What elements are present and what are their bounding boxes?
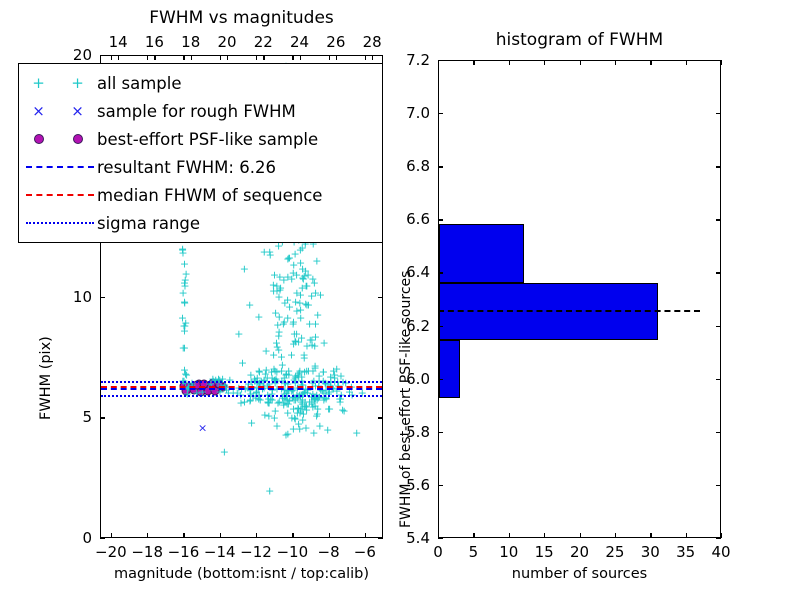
all-sample-point: + (180, 321, 189, 332)
all-sample-point: + (247, 418, 256, 429)
all-sample-point: + (299, 408, 308, 419)
all-sample-point: + (285, 396, 294, 407)
axis-tick (329, 533, 330, 538)
all-sample-point: + (284, 252, 293, 263)
all-sample-point: + (296, 304, 305, 315)
dashed-line-icon (26, 166, 94, 168)
all-sample-point: + (310, 401, 319, 412)
all-sample-point: + (292, 287, 301, 298)
all-sample-point: + (236, 397, 245, 408)
all-sample-point: + (273, 319, 282, 330)
all-sample-point: + (281, 369, 290, 380)
all-sample-point: + (292, 270, 301, 281)
all-sample-point: + (308, 365, 317, 376)
all-sample-point: + (269, 286, 278, 297)
all-sample-point: + (298, 283, 307, 294)
all-sample-point: + (289, 392, 298, 403)
all-sample-point: + (296, 245, 305, 256)
sigma-lower-line (101, 395, 382, 397)
all-sample-point: + (311, 360, 320, 371)
all-sample-point: + (264, 411, 273, 422)
left-y-axis-label: FWHM (pix) (38, 336, 54, 420)
left-x-axis-label: magnitude (bottom:isnt / top:calib) (100, 566, 383, 582)
all-sample-point: + (180, 343, 189, 354)
all-sample-point: + (263, 396, 272, 407)
all-sample-point: + (313, 310, 322, 321)
all-sample-point: + (307, 398, 316, 409)
all-sample-point: + (275, 284, 284, 295)
top-x-tick-label: 22 (254, 33, 273, 51)
all-sample-point: + (301, 422, 310, 433)
all-sample-point: + (291, 249, 300, 260)
axis-tick (650, 533, 651, 538)
all-sample-point: + (307, 397, 316, 408)
all-sample-point: + (261, 345, 270, 356)
all-sample-point: + (302, 400, 311, 411)
x-tick-label: 10 (499, 543, 518, 561)
all-sample-point: + (305, 319, 314, 330)
legend-item-4: median FHWM of sequence (19, 181, 382, 209)
all-sample-point: + (234, 328, 243, 339)
all-sample-point: + (180, 281, 189, 292)
axis-tick (220, 533, 221, 538)
axis-tick (509, 60, 510, 65)
x-tick-label: −8 (318, 543, 340, 561)
all-sample-point: + (301, 298, 310, 309)
axis-tick (378, 55, 383, 56)
all-sample-point: + (279, 275, 288, 286)
all-sample-point: + (319, 366, 328, 377)
all-sample-point: + (294, 368, 303, 379)
axis-tick (292, 55, 293, 60)
all-sample-point: + (339, 406, 348, 417)
all-sample-point: + (274, 344, 283, 355)
axis-tick (183, 55, 184, 60)
all-sample-point: + (302, 404, 311, 415)
right-plot-frame (438, 60, 721, 538)
all-sample-point: + (313, 404, 322, 415)
all-sample-point: + (294, 419, 303, 430)
all-sample-point: + (296, 403, 305, 414)
circle-marker-icon (34, 134, 44, 144)
axis-tick (336, 55, 337, 60)
axis-tick (378, 538, 383, 539)
axis-tick (220, 55, 221, 60)
top-x-tick-label: 20 (217, 33, 236, 51)
all-sample-point: + (302, 365, 311, 376)
all-sample-point: + (246, 370, 255, 381)
all-sample-point: + (180, 297, 189, 308)
all-sample-point: + (283, 399, 292, 410)
all-sample-point: + (271, 374, 280, 385)
top-x-tick-label: 28 (363, 33, 382, 51)
all-sample-point: + (289, 268, 298, 279)
all-sample-point: + (298, 242, 307, 253)
all-sample-point: + (240, 263, 249, 274)
legend-marker-group (19, 166, 97, 168)
right-chart-title: histogram of FWHM (438, 30, 721, 50)
axis-tick (100, 417, 105, 418)
all-sample-point: + (288, 318, 297, 329)
axis-tick (154, 55, 155, 60)
all-sample-point: + (284, 365, 293, 376)
axis-tick (256, 55, 257, 60)
all-sample-point: + (325, 403, 334, 414)
right-x-axis-label: number of sources (438, 566, 721, 582)
all-sample-point: + (301, 281, 310, 292)
top-x-tick-label: 24 (290, 33, 309, 51)
all-sample-point: + (329, 366, 338, 377)
all-sample-point: + (296, 313, 305, 324)
all-sample-point: + (178, 248, 187, 259)
all-sample-point: + (214, 374, 223, 385)
axis-tick (716, 113, 721, 114)
histogram-bar (439, 283, 658, 340)
axis-tick (183, 533, 184, 538)
all-sample-point: + (277, 351, 286, 362)
axis-tick (473, 60, 474, 65)
all-sample-point: + (180, 258, 189, 269)
all-sample-point: + (297, 332, 306, 343)
axis-tick (438, 485, 443, 486)
all-sample-point: + (295, 408, 304, 419)
all-sample-point: + (308, 274, 317, 285)
all-sample-point: + (315, 392, 324, 403)
legend-item-5: sigma range (19, 209, 382, 237)
all-sample-point: + (181, 274, 190, 285)
axis-tick (716, 326, 721, 327)
all-sample-point: + (272, 338, 281, 349)
all-sample-point: + (272, 367, 281, 378)
y-tick-label: 0 (82, 529, 92, 547)
all-sample-point: + (336, 370, 345, 381)
all-sample-point: + (307, 339, 316, 350)
all-sample-point: + (293, 369, 302, 380)
axis-tick (716, 485, 721, 486)
axis-tick (263, 55, 264, 60)
all-sample-point: + (280, 316, 289, 327)
x-tick-label: 35 (676, 543, 695, 561)
all-sample-point: + (289, 404, 298, 415)
axis-tick (650, 60, 651, 65)
axis-tick (615, 533, 616, 538)
all-sample-point: + (275, 272, 284, 283)
legend-item-0: ++all sample (19, 69, 382, 97)
all-sample-point: + (287, 413, 296, 424)
all-sample-point: + (265, 485, 274, 496)
all-sample-point: + (308, 402, 317, 413)
all-sample-point: + (302, 341, 311, 352)
all-sample-point: + (283, 295, 292, 306)
axis-tick (300, 55, 301, 60)
plus-marker-icon: + (71, 76, 84, 91)
axis-tick (686, 60, 687, 65)
all-sample-point: + (338, 404, 347, 415)
all-sample-point: + (178, 245, 187, 256)
axis-tick (438, 432, 443, 433)
all-sample-point: + (277, 366, 286, 377)
all-sample-point: + (279, 400, 288, 411)
all-sample-point: + (300, 401, 309, 412)
all-sample-point: + (305, 397, 314, 408)
x-tick-label: −14 (204, 543, 236, 561)
all-sample-point: + (271, 308, 280, 319)
all-sample-point: + (295, 424, 304, 435)
axis-tick (716, 538, 721, 539)
all-sample-point: + (179, 288, 188, 299)
all-sample-point: + (272, 281, 281, 292)
all-sample-point: + (283, 313, 292, 324)
histogram-bar (439, 340, 460, 398)
all-sample-point: + (289, 260, 298, 271)
all-sample-point: + (267, 367, 276, 378)
legend-label: resultant FWHM: 6.26 (97, 158, 276, 177)
all-sample-point: + (274, 291, 283, 302)
x-tick-label: 30 (641, 543, 660, 561)
all-sample-point: + (311, 319, 320, 330)
all-sample-point: + (323, 425, 332, 436)
axis-tick (509, 533, 510, 538)
all-sample-point: + (270, 413, 279, 424)
right-y-axis-label: FWHM of best-effort PSF-like sources (398, 271, 414, 528)
all-sample-point: + (266, 250, 275, 261)
x-tick-label: 0 (433, 543, 443, 561)
axis-tick (100, 55, 105, 56)
all-sample-point: + (313, 409, 322, 420)
top-x-tick-label: 26 (326, 33, 345, 51)
legend-item-3: resultant FWHM: 6.26 (19, 153, 382, 181)
all-sample-point: + (292, 329, 301, 340)
axis-tick (716, 379, 721, 380)
axis-tick (256, 533, 257, 538)
all-sample-point: + (245, 299, 254, 310)
legend-marker-group (19, 194, 97, 196)
all-sample-point: + (284, 399, 293, 410)
all-sample-point: + (283, 253, 292, 264)
y-tick-label: 20 (73, 46, 92, 64)
all-sample-point: + (274, 326, 283, 337)
legend-item-1: ××sample for rough FWHM (19, 97, 382, 125)
all-sample-point: + (332, 364, 341, 375)
axis-tick (721, 533, 722, 538)
all-sample-point: + (180, 278, 189, 289)
left-chart-title: FWHM vs magnitudes (0, 8, 483, 28)
all-sample-point: + (179, 321, 188, 332)
x-tick-label: −18 (131, 543, 163, 561)
legend-marker-group (19, 134, 97, 144)
all-sample-point: + (299, 274, 308, 285)
all-sample-point: + (260, 246, 269, 257)
all-sample-point: + (289, 317, 298, 328)
axis-tick (118, 55, 119, 60)
all-sample-point: + (307, 291, 316, 302)
all-sample-point: + (276, 282, 285, 293)
all-sample-point: + (283, 271, 292, 282)
x-tick-label: 15 (535, 543, 554, 561)
all-sample-point: + (208, 374, 217, 385)
axis-tick (438, 538, 443, 539)
x-tick-label: −6 (354, 543, 376, 561)
legend-label: sample for rough FWHM (97, 102, 296, 121)
legend-marker-group (19, 222, 97, 224)
all-sample-point: + (304, 366, 313, 377)
cross-marker-icon: × (71, 104, 84, 119)
all-sample-point: + (283, 408, 292, 419)
axis-tick (438, 166, 443, 167)
histogram-of-fwhm-chart (438, 60, 721, 538)
legend-marker-group: ×× (19, 104, 97, 119)
all-sample-point: + (291, 297, 300, 308)
all-sample-point: + (301, 402, 310, 413)
all-sample-point: + (287, 273, 296, 284)
all-sample-point: + (182, 369, 191, 380)
dashed-line-icon (26, 194, 94, 196)
all-sample-point: + (302, 280, 311, 291)
axis-tick (111, 533, 112, 538)
all-sample-point: + (269, 363, 278, 374)
plus-marker-icon: + (32, 76, 45, 91)
all-sample-point: + (267, 388, 276, 399)
all-sample-point: + (225, 374, 234, 385)
axis-tick (716, 219, 721, 220)
axis-tick (329, 55, 330, 60)
all-sample-point: + (260, 410, 269, 421)
y-tick-label: 10 (73, 288, 92, 306)
all-sample-point: + (300, 352, 309, 363)
all-sample-point: + (287, 350, 296, 361)
all-sample-point: + (271, 365, 280, 376)
all-sample-point: + (298, 273, 307, 284)
all-sample-point: + (294, 336, 303, 347)
axis-tick (716, 166, 721, 167)
all-sample-point: + (293, 407, 302, 418)
all-sample-point: + (309, 428, 318, 439)
legend-label: best-effort PSF-like sample (97, 130, 318, 149)
all-sample-point: + (352, 427, 361, 438)
all-sample-point: + (211, 374, 220, 385)
all-sample-point: + (297, 396, 306, 407)
all-sample-point: + (295, 365, 304, 376)
all-sample-point: + (312, 411, 321, 422)
axis-tick (378, 297, 383, 298)
all-sample-point: + (181, 368, 190, 379)
all-sample-point: + (291, 335, 300, 346)
all-sample-point: + (181, 268, 190, 279)
figure-canvas: FWHM vs magnitudes +++++++++++++++++++++… (0, 0, 800, 600)
all-sample-point: + (336, 397, 345, 408)
all-sample-point: + (300, 396, 309, 407)
all-sample-point: + (296, 258, 305, 269)
all-sample-point: + (264, 398, 273, 409)
all-sample-point: + (310, 362, 319, 373)
axis-tick (716, 272, 721, 273)
axis-tick (147, 55, 148, 60)
all-sample-point: + (310, 278, 319, 289)
all-sample-point: + (261, 368, 270, 379)
axis-tick (438, 326, 443, 327)
legend-label: median FHWM of sequence (97, 186, 322, 205)
axis-tick (111, 55, 112, 60)
all-sample-point: + (291, 370, 300, 381)
all-sample-point: + (293, 403, 302, 414)
sigma-upper-line (101, 381, 382, 383)
all-sample-point: + (298, 398, 307, 409)
all-sample-point: + (299, 349, 308, 360)
all-sample-point: + (272, 286, 281, 297)
all-sample-point: + (179, 342, 188, 353)
axis-tick (227, 55, 228, 60)
y-tick-label: 7.0 (406, 104, 430, 122)
resultant-fwhm-line (101, 388, 382, 390)
x-tick-label: −12 (240, 543, 272, 561)
axis-tick (473, 533, 474, 538)
x-tick-label: −16 (168, 543, 200, 561)
all-sample-point: + (311, 332, 320, 343)
axis-tick (438, 272, 443, 273)
rough-fwhm-point: × (198, 422, 207, 433)
all-sample-point: + (220, 447, 229, 458)
cross-marker-icon: × (32, 104, 45, 119)
y-tick-label: 6.6 (406, 210, 430, 228)
legend-label: sigma range (97, 214, 200, 233)
circle-marker-icon (73, 134, 83, 144)
axis-tick (438, 60, 443, 61)
histogram-bar (439, 224, 524, 283)
all-sample-point: + (254, 366, 263, 377)
all-sample-point: + (275, 312, 284, 323)
all-sample-point: + (300, 366, 309, 377)
all-sample-point: + (324, 403, 333, 414)
all-sample-point: + (283, 429, 292, 440)
axis-tick (544, 533, 545, 538)
all-sample-point: + (279, 319, 288, 330)
all-sample-point: + (265, 247, 274, 258)
axis-tick (716, 60, 721, 61)
axis-tick (580, 60, 581, 65)
all-sample-point: + (285, 252, 294, 263)
axis-tick (147, 533, 148, 538)
all-sample-point: + (311, 287, 320, 298)
all-sample-point: + (296, 392, 305, 403)
all-sample-point: + (298, 403, 307, 414)
all-sample-point: + (310, 340, 319, 351)
all-sample-point: + (180, 326, 189, 337)
all-sample-point: + (306, 334, 315, 345)
legend-marker-group: ++ (19, 76, 97, 91)
all-sample-point: + (289, 338, 298, 349)
all-sample-point: + (254, 311, 263, 322)
all-sample-point: + (298, 414, 307, 425)
all-sample-point: + (303, 270, 312, 281)
all-sample-point: + (320, 338, 329, 349)
all-sample-point: + (290, 328, 299, 339)
all-sample-point: + (285, 302, 294, 313)
all-sample-point: + (316, 290, 325, 301)
median-fwhm-line (438, 310, 700, 312)
all-sample-point: + (280, 298, 289, 309)
all-sample-point: + (262, 365, 271, 376)
all-sample-point: + (275, 397, 284, 408)
all-sample-point: + (291, 414, 300, 425)
x-tick-label: −10 (276, 543, 308, 561)
axis-tick (100, 538, 105, 539)
all-sample-point: + (238, 357, 247, 368)
all-sample-point: + (269, 349, 278, 360)
axis-tick (438, 379, 443, 380)
axis-tick (615, 60, 616, 65)
x-tick-label: 5 (469, 543, 479, 561)
axis-tick (580, 533, 581, 538)
